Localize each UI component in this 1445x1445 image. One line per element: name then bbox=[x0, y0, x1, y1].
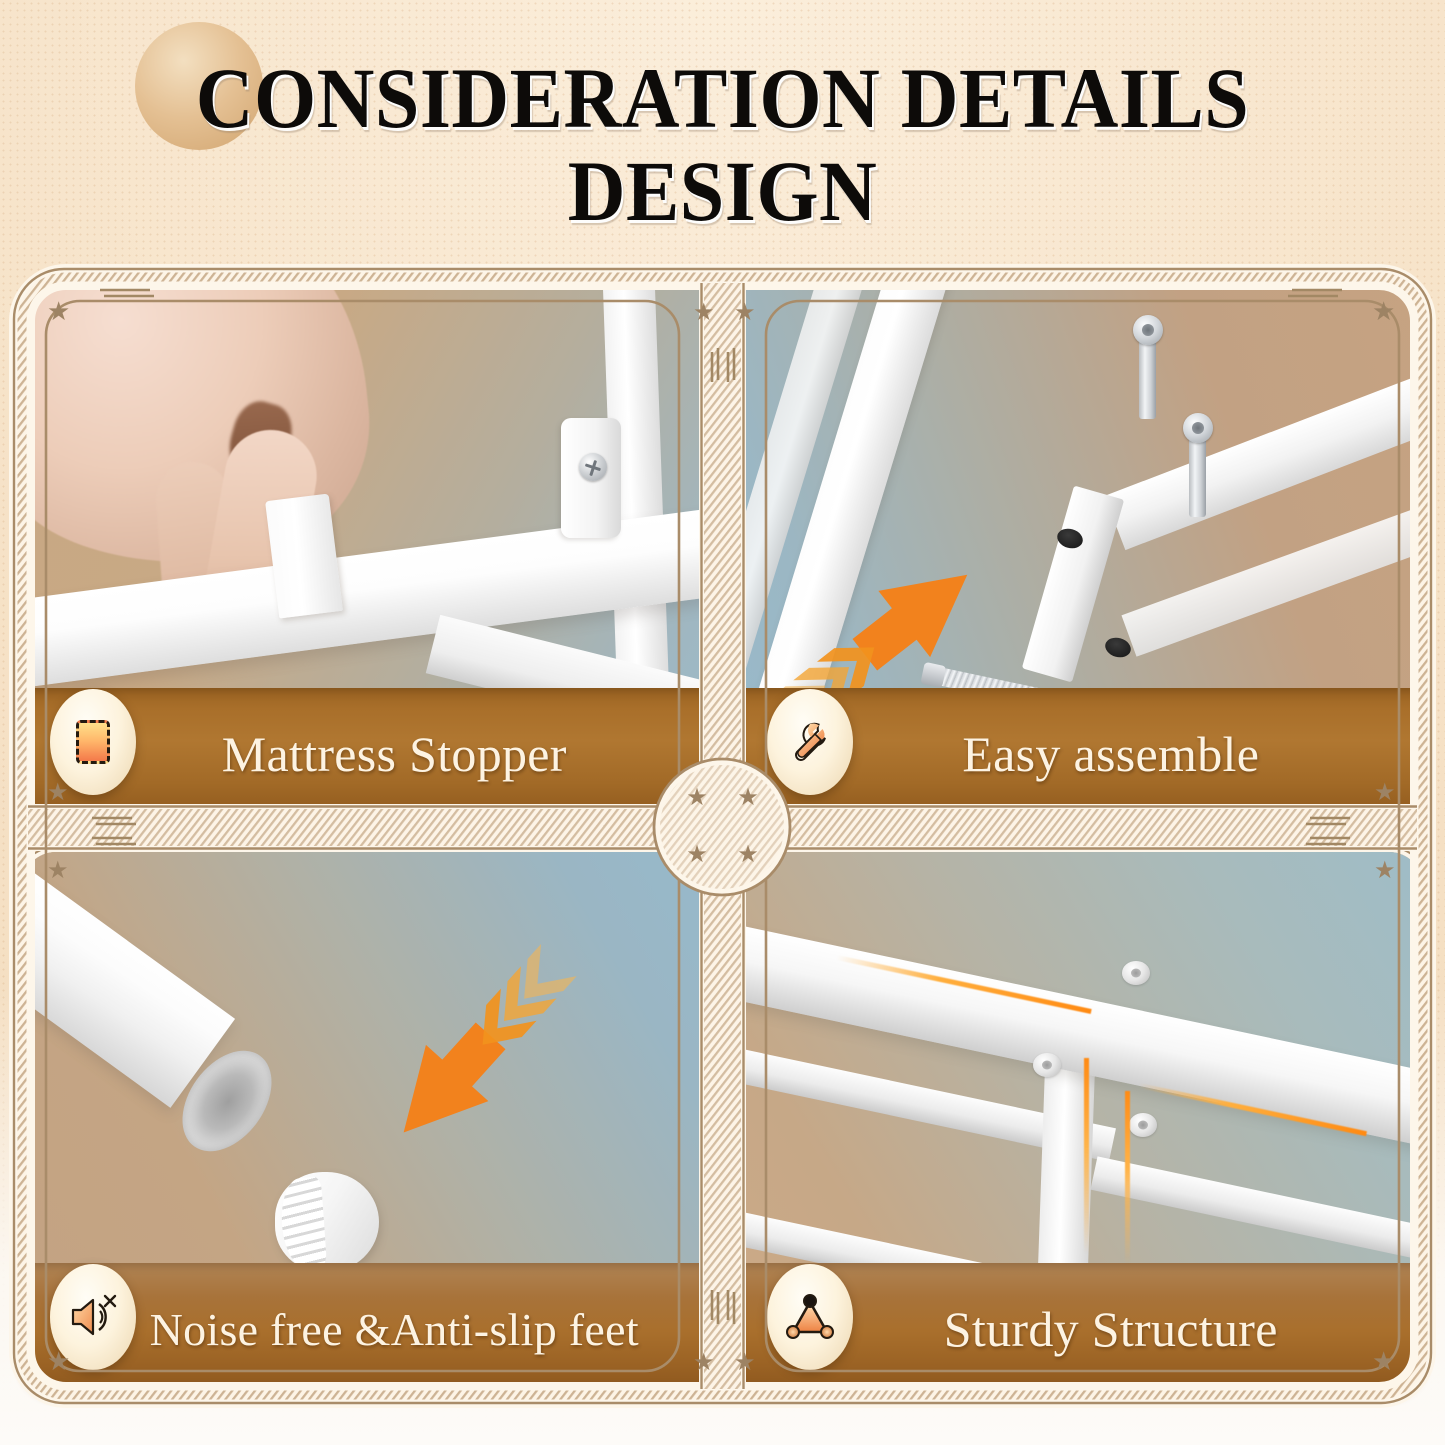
bolt-head bbox=[1133, 315, 1163, 345]
panel-noise-free-anti-slip-feet[interactable]: Noise free &Anti-slip feet bbox=[22, 852, 707, 1395]
infographic-stage: CONSIDERATION DETAILS DESIGN bbox=[0, 0, 1445, 1445]
panel-easy-assemble[interactable]: Easy assemble bbox=[739, 277, 1424, 820]
bolt-head bbox=[1183, 413, 1213, 443]
title-line-1: CONSIDERATION DETAILS bbox=[51, 52, 1395, 145]
triangle-truss-glyph bbox=[783, 1292, 837, 1342]
panel-sturdy-structure[interactable]: Sturdy Structure bbox=[739, 852, 1424, 1395]
panel-grid: Mattress Stopper bbox=[22, 277, 1423, 1395]
wrench-icon bbox=[767, 689, 853, 795]
bolt-hole bbox=[1103, 635, 1133, 660]
panel-label-easy-assemble: Easy assemble bbox=[853, 725, 1424, 783]
orange-chevron-arrow-up-left bbox=[364, 906, 644, 1136]
joint-glow-line bbox=[1125, 1091, 1130, 1265]
joint-glow-line bbox=[1084, 1058, 1089, 1253]
panel-label-noise-free: Noise free &Anti-slip feet bbox=[136, 1303, 707, 1356]
panel-mattress-stopper[interactable]: Mattress Stopper bbox=[22, 277, 707, 820]
panel-label-bar-easy-assemble: Easy assemble bbox=[739, 688, 1424, 820]
panel-label-bar-sturdy-structure: Sturdy Structure bbox=[739, 1263, 1424, 1395]
title-line-2: DESIGN bbox=[51, 145, 1395, 238]
mattress-stopper-icon bbox=[50, 689, 136, 795]
screw-icon bbox=[579, 453, 607, 481]
mute-speaker-icon bbox=[50, 1264, 136, 1370]
wrench-glyph bbox=[785, 717, 835, 767]
panel-label-mattress-stopper: Mattress Stopper bbox=[136, 725, 707, 783]
mute-speaker-glyph bbox=[67, 1294, 119, 1340]
panel-label-bar-mattress-stopper: Mattress Stopper bbox=[22, 688, 707, 820]
bolt-head bbox=[1129, 1113, 1157, 1137]
page-title: CONSIDERATION DETAILS DESIGN bbox=[0, 52, 1445, 238]
panel-label-sturdy-structure: Sturdy Structure bbox=[853, 1300, 1424, 1358]
panel-label-bar-noise-free: Noise free &Anti-slip feet bbox=[22, 1263, 707, 1395]
bolt-head bbox=[1033, 1053, 1061, 1077]
bolt-head bbox=[1122, 961, 1150, 985]
bed-slat bbox=[1091, 1156, 1423, 1272]
mattress-stopper-glyph bbox=[76, 720, 110, 764]
triangle-truss-icon bbox=[767, 1264, 853, 1370]
